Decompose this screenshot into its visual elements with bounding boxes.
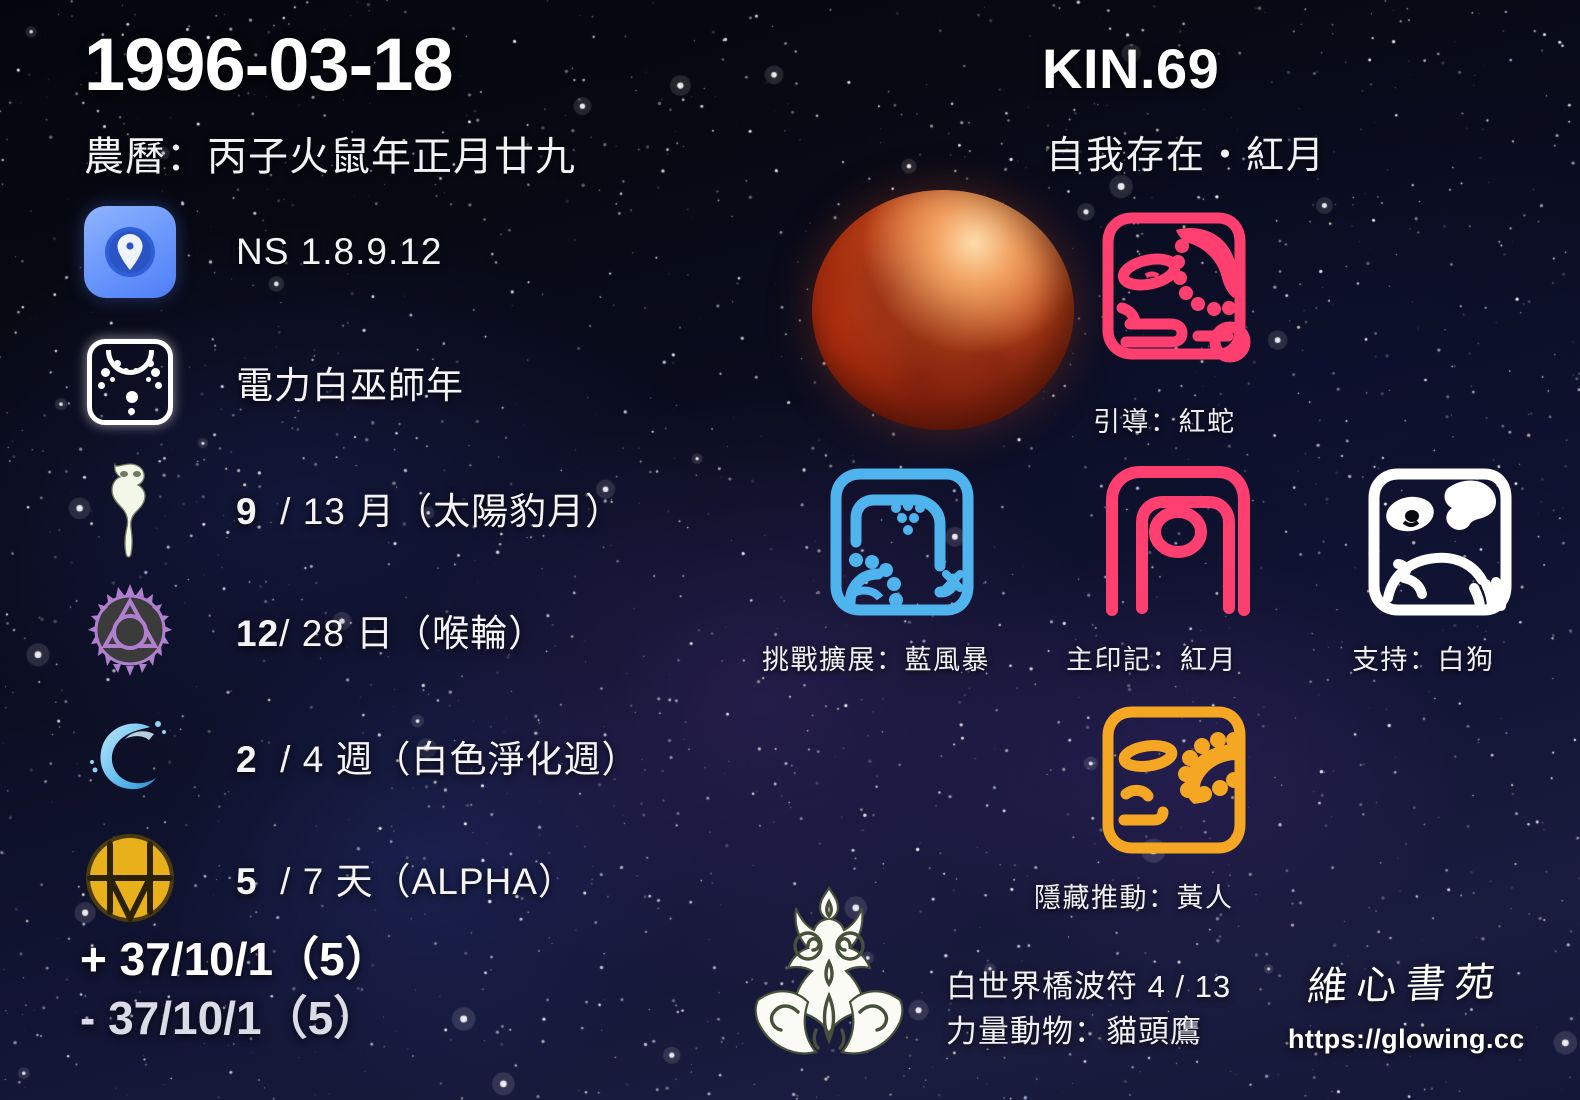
blue-storm-glyph[interactable]: [814, 452, 990, 632]
ns-location-icon: [78, 200, 182, 304]
kin-subtitle: 自我存在‧紅月: [1046, 124, 1326, 179]
challenge-label: 挑戰擴展：藍風暴: [762, 638, 990, 677]
ns-value-label: NS 1.8.9.12: [236, 231, 442, 273]
alpha-plasma-icon: [78, 826, 182, 930]
wavespell-label: 白世界橋波符 4 / 13: [946, 965, 1231, 1010]
chakra-value-label: 12/ 28 日（喉輪）: [236, 603, 546, 657]
info-row-ns: NS 1.8.9.12: [78, 200, 718, 304]
info-rows: NS 1.8.9.12 電力: [78, 200, 718, 930]
info-row-year: 電力白巫師年: [78, 330, 718, 434]
red-serpent-glyph[interactable]: [1086, 196, 1262, 376]
hidden-driver-label: 隱藏推動：黃人: [1034, 876, 1234, 915]
main-sign-label: 主印記：紅月: [1066, 638, 1237, 677]
kin-offset-plus: + 37/10/1（5）: [80, 930, 391, 989]
week-water-icon: [78, 704, 182, 808]
guide-label: 引導：紅蛇: [1093, 400, 1236, 439]
owl-emblem-icon: [738, 884, 920, 1056]
plasma-value-label: 5 / 7 天（ALPHA）: [236, 851, 576, 905]
red-moon-glyph[interactable]: [1090, 450, 1266, 630]
brand-name-cn: 維心書苑: [1285, 949, 1526, 1013]
kin-offsets: + 37/10/1（5） - 37/10/1（5）: [80, 930, 391, 1048]
white-dog-glyph[interactable]: [1352, 452, 1528, 632]
info-row-week: 2 / 4 週（白色淨化週）: [78, 704, 718, 808]
kin-offset-minus: - 37/10/1（5）: [80, 989, 391, 1048]
month-value-label: 9 / 13 月（太陽豹月）: [236, 481, 623, 535]
wavespell-block: 白世界橋波符 4 / 13 力量動物：貓頭鷹: [946, 965, 1231, 1055]
kin-number: KIN.69: [1042, 36, 1219, 101]
year-label: 電力白巫師年: [236, 355, 464, 409]
yellow-human-glyph[interactable]: [1086, 690, 1262, 870]
info-row-chakra: 12/ 28 日（喉輪）: [78, 578, 718, 682]
power-animal-label: 力量動物：貓頭鷹: [946, 1010, 1231, 1055]
kin-card: 1996-03-18 農曆：丙子火鼠年正月廿九 NS 1.8.9.12: [0, 0, 1580, 1100]
support-label: 支持：白狗: [1352, 638, 1495, 677]
throat-chakra-icon: [78, 578, 182, 682]
lunar-date-label: 農曆：丙子火鼠年正月廿九: [84, 124, 576, 182]
info-row-plasma: 5 / 7 天（ALPHA）: [78, 826, 718, 930]
info-row-month: 9 / 13 月（太陽豹月）: [78, 456, 718, 560]
page-title: 1996-03-18: [84, 22, 453, 107]
year-glyph-icon: [78, 330, 182, 434]
moon-jaguar-icon: [78, 456, 182, 560]
week-value-label: 2 / 4 週（白色淨化週）: [236, 729, 640, 783]
brand-block: 維心書苑 https://glowing.cc: [1288, 952, 1524, 1055]
blood-moon-photo: [812, 190, 1074, 430]
brand-url[interactable]: https://glowing.cc: [1288, 1024, 1524, 1055]
